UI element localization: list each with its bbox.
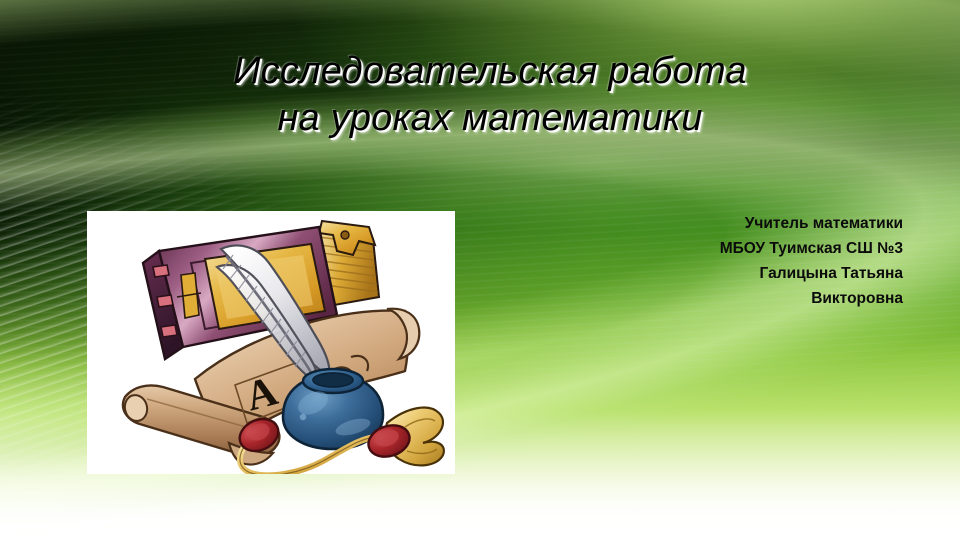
clipart-image: A: [87, 211, 455, 474]
clipart-svg: A: [87, 211, 455, 474]
credit-line-name-first: Галицына Татьяна: [648, 261, 903, 286]
credit-line-school: МБОУ Туимская СШ №3: [648, 236, 903, 261]
slide-title: Исследовательская работа на уроках матем…: [150, 48, 830, 142]
credit-line-role: Учитель математики: [648, 211, 903, 236]
author-credits-block: Учитель математики МБОУ Туимская СШ №3 Г…: [648, 211, 903, 311]
credit-line-name-second: Викторовна: [648, 286, 903, 311]
presentation-slide: Исследовательская работа на уроках матем…: [0, 0, 960, 540]
